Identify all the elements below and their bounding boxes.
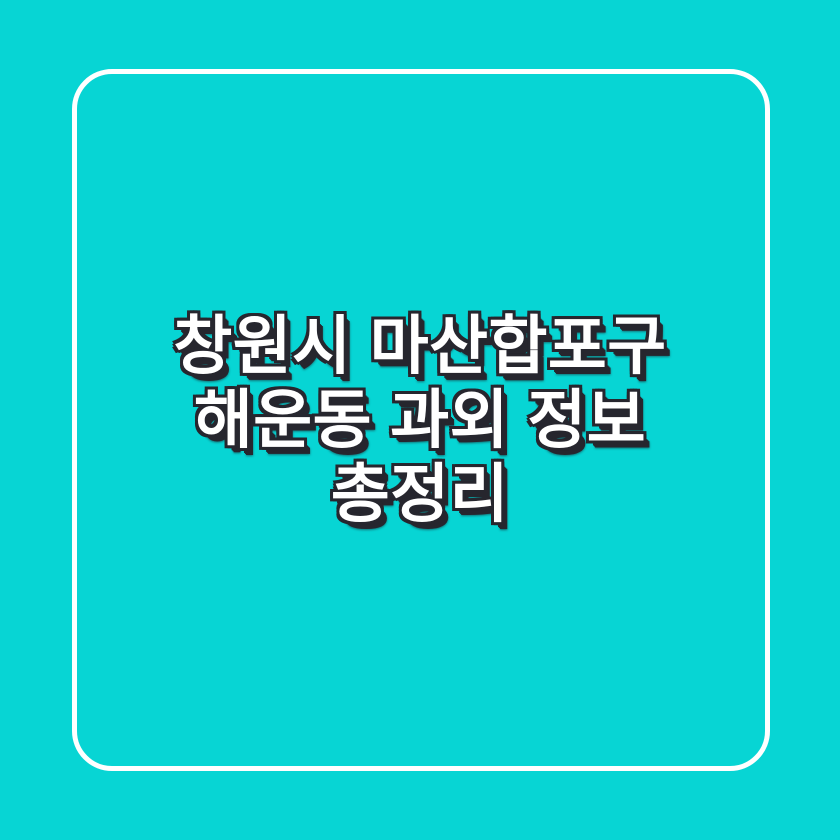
- title-block: 창원시 마산합포구 해운동 과외 정보 총정리: [0, 0, 840, 840]
- title-line-3: 총정리: [331, 457, 509, 531]
- title-line-1: 창원시 마산합포구: [173, 309, 666, 383]
- thumbnail-card: 창원시 마산합포구 해운동 과외 정보 총정리: [0, 0, 840, 840]
- title-line-2: 해운동 과외 정보: [194, 383, 646, 457]
